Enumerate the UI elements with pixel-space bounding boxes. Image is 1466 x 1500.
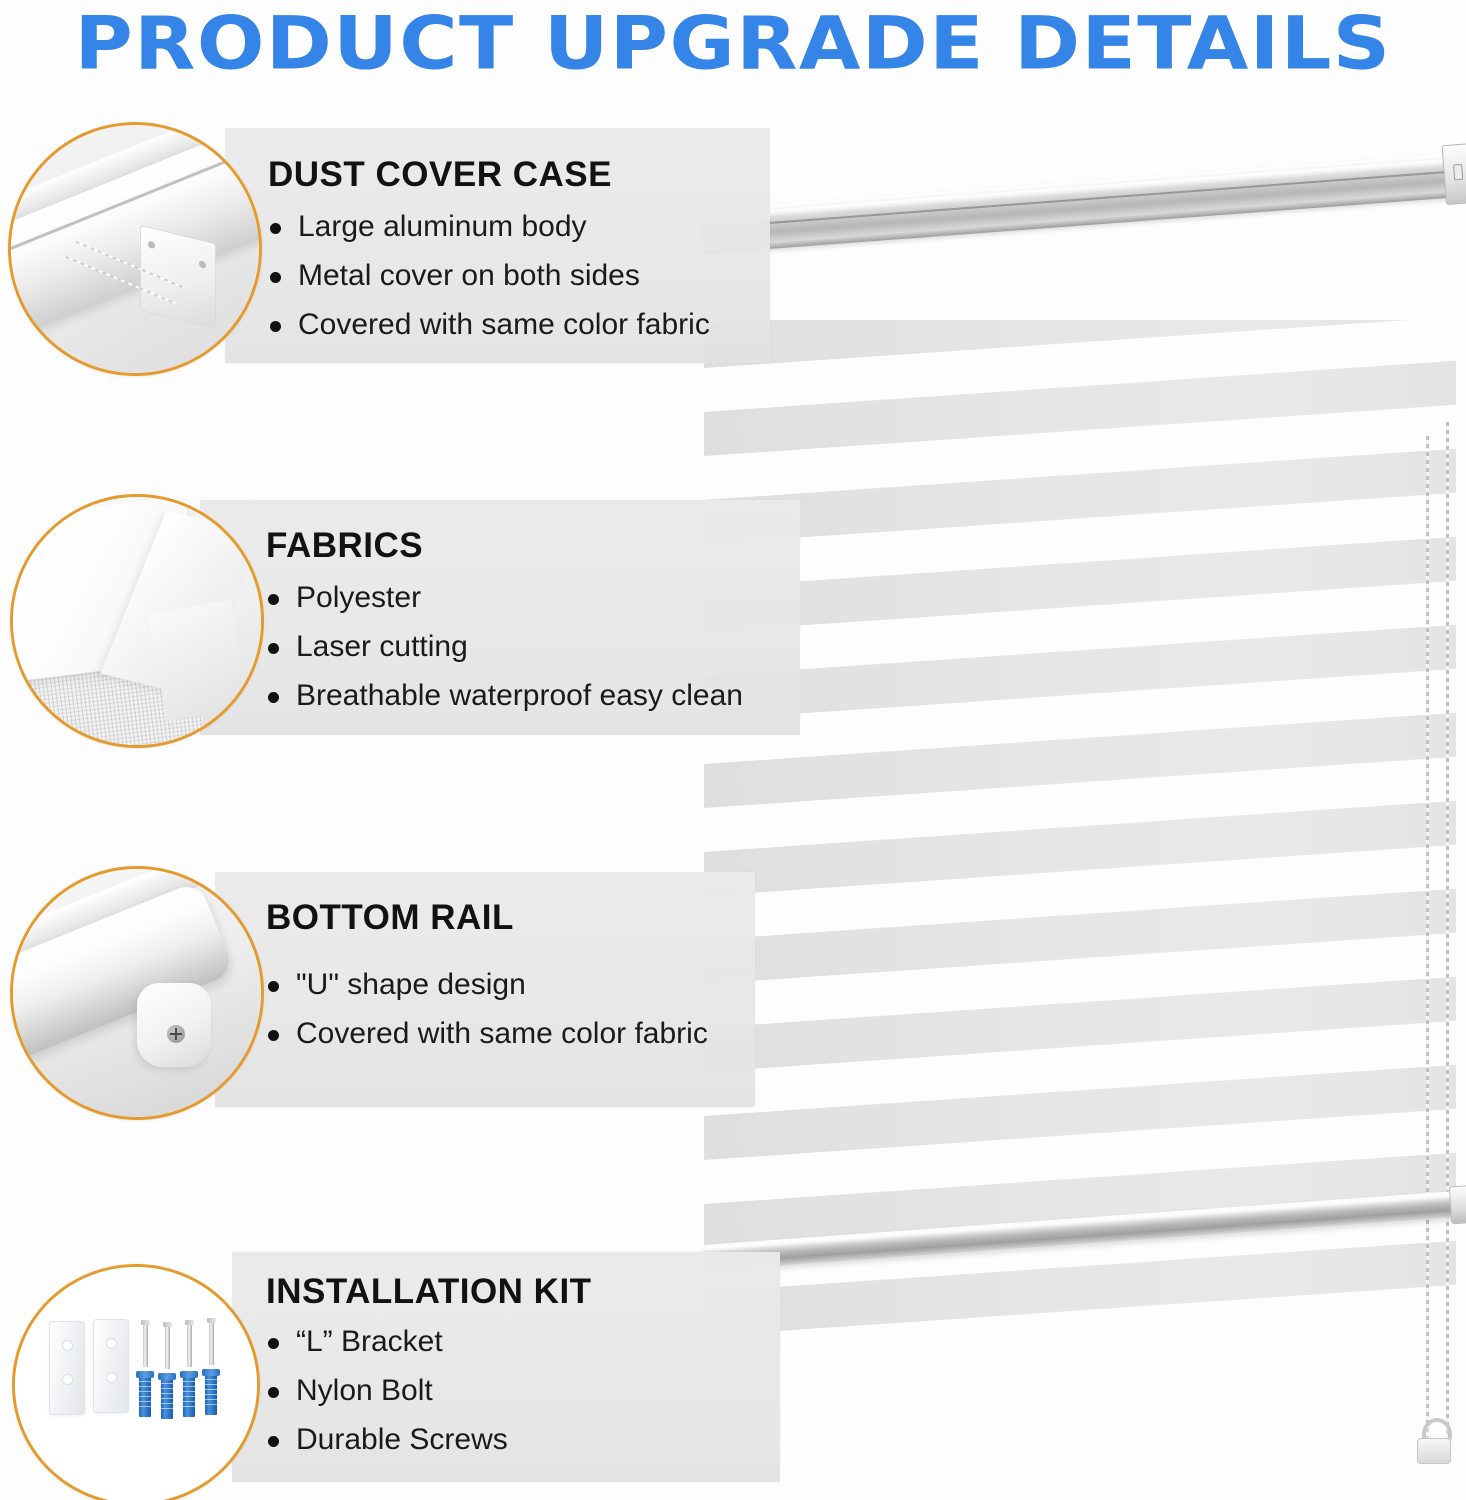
fabric-sample-photo	[10, 494, 264, 748]
bead-chain-back	[1446, 422, 1449, 1442]
list-item: “L” Bracket	[266, 1327, 508, 1357]
chain-tensioner	[1416, 1418, 1450, 1464]
dust-cover-case-photo	[8, 122, 262, 376]
list-item: "U" shape design	[266, 970, 708, 1000]
list-item: Durable Screws	[266, 1425, 508, 1455]
list-item: Breathable waterproof easy clean	[266, 681, 743, 711]
list-item: Nylon Bolt	[266, 1376, 508, 1406]
installation-kit-photo	[12, 1264, 260, 1500]
page-title: PRODUCT UPGRADE DETAILS	[0, 2, 1466, 87]
list-item: Large aluminum body	[268, 212, 710, 242]
section-title-fabrics: FABRICS	[266, 526, 423, 566]
product-upgrade-infographic: PRODUCT UPGRADE DETAILS	[0, 0, 1466, 1500]
section-title-bottom-rail: BOTTOM RAIL	[266, 898, 514, 938]
dust-cover-headrail	[700, 153, 1461, 254]
zebra-roller-blind	[690, 190, 1466, 1370]
section-title-dust-cover-case: DUST COVER CASE	[268, 155, 612, 195]
bottomrail-end-cap	[1449, 1185, 1466, 1224]
list-item: Polyester	[266, 583, 743, 613]
headrail-groove	[705, 170, 1455, 228]
headrail-highlight	[703, 158, 1454, 221]
bullet-list-bottom-rail: "U" shape design Covered with same color…	[266, 970, 708, 1068]
bullet-list-installation-kit: “L” Bracket Nylon Bolt Durable Screws	[266, 1327, 508, 1474]
headrail-end-cap	[1442, 143, 1466, 205]
list-item: Metal cover on both sides	[268, 261, 710, 291]
chain-connector-body	[1417, 1438, 1451, 1464]
bullet-list-fabrics: Polyester Laser cutting Breathable water…	[266, 583, 743, 730]
bottom-rail-photo	[10, 866, 264, 1120]
bead-chain-front	[1426, 436, 1429, 1446]
section-title-installation-kit: INSTALLATION KIT	[266, 1272, 592, 1312]
list-item: Covered with same color fabric	[268, 310, 710, 340]
list-item: Laser cutting	[266, 632, 743, 662]
bullet-list-dust-cover-case: Large aluminum body Metal cover on both …	[268, 212, 710, 359]
list-item: Covered with same color fabric	[266, 1019, 708, 1049]
